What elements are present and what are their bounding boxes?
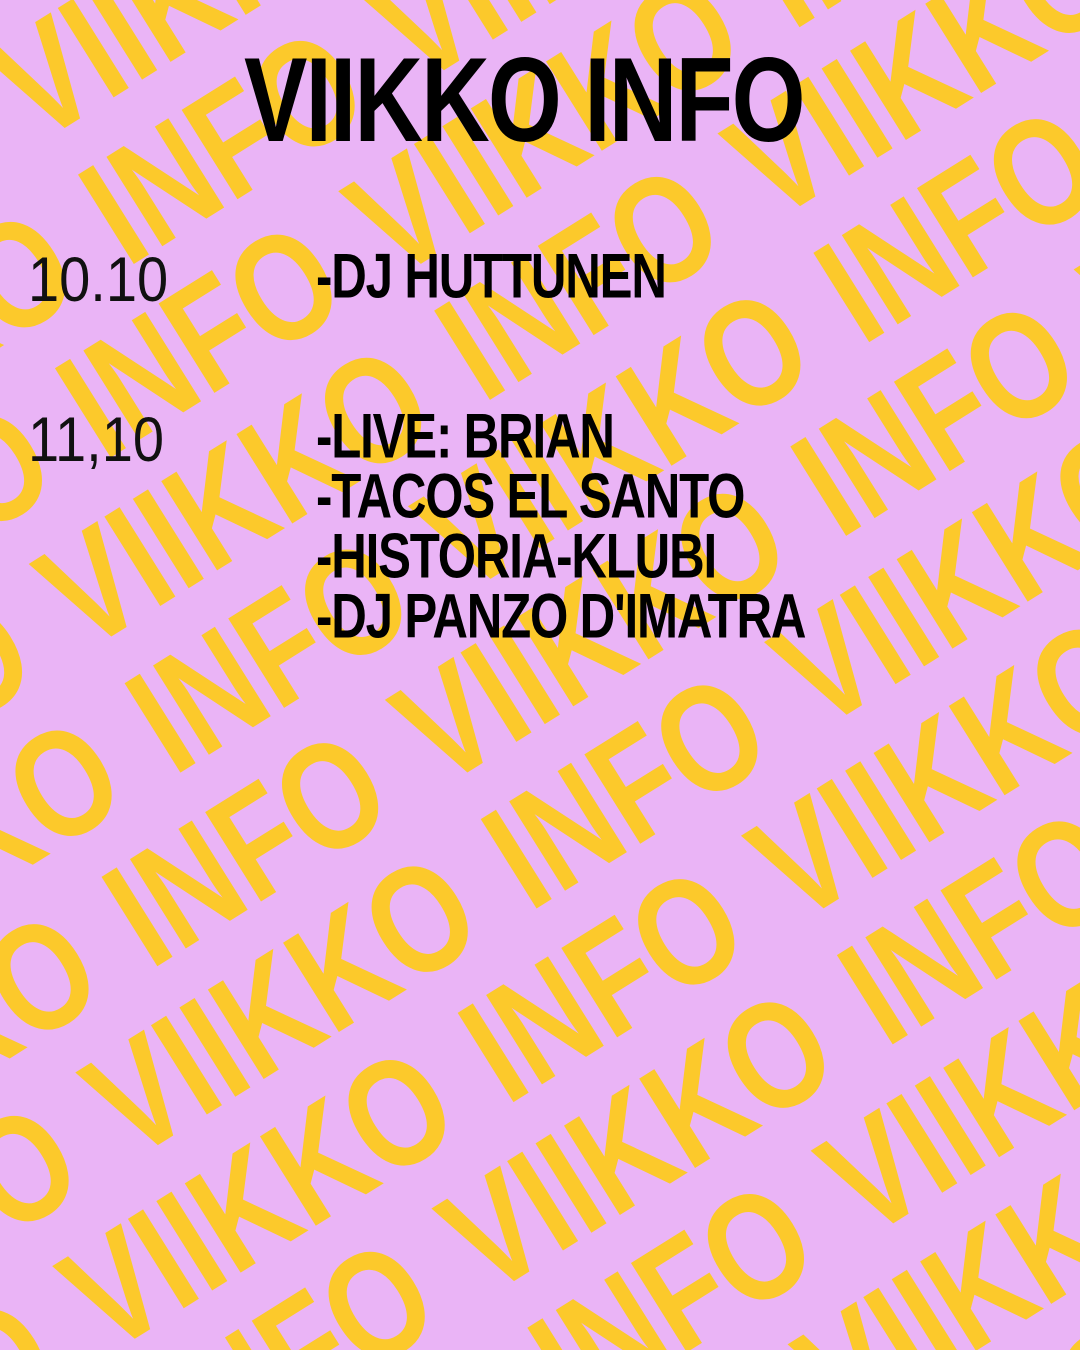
entry-line: -LIVE: BRIAN [316,406,805,468]
entry-date: 10.10 [28,246,168,313]
poster-content: VIIKKO INFO 10.10 -DJ HUTTUNEN 11,10 -LI… [0,0,1080,1350]
entry-line: -HISTORIA-KLUBI [316,526,805,588]
entry-line: -DJ HUTTUNEN [316,246,666,308]
entry-line-list: -LIVE: BRIAN -TACOS EL SANTO -HISTORIA-K… [316,406,813,635]
page-title: VIIKKO INFO [244,36,804,163]
entry-date: 11,10 [28,406,164,473]
entry-line-list: -DJ HUTTUNEN [316,246,671,295]
poster-canvas: VIIKKOINFOVIIKKOINFOVIIKKOINFOVIIKKOINFO… [0,0,1080,1350]
entry-line: -DJ PANZO D'IMATRA [316,586,805,648]
entry-line: -TACOS EL SANTO [316,466,805,528]
